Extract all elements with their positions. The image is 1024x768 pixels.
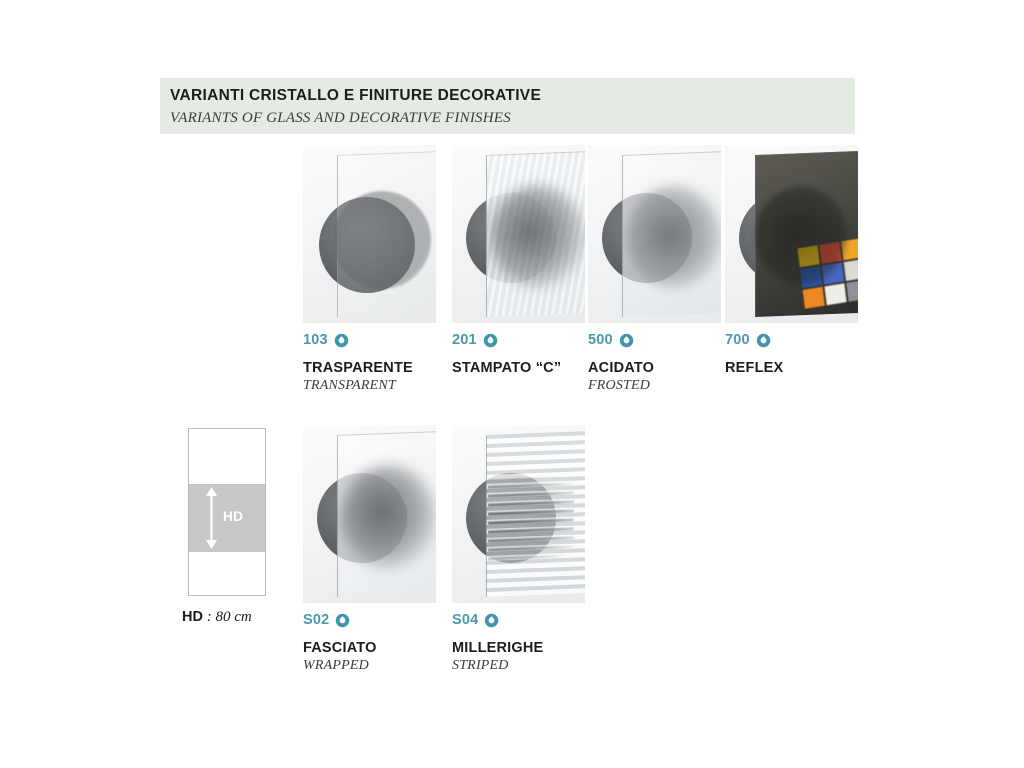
glass-variant-card-500[interactable]: 500 ACIDATO FROSTED — [588, 145, 725, 323]
page-subtitle: VARIANTS OF GLASS AND DECORATIVE FINISHE… — [170, 108, 855, 128]
variant-code-line: 103 — [303, 331, 453, 349]
variant-code: 500 — [588, 332, 613, 348]
variant-caption: S02 FASCIATO WRAPPED — [303, 611, 453, 674]
variant-code-line: 700 — [725, 331, 875, 349]
drop-icon — [335, 613, 350, 628]
variant-name-it: STAMPATO “C” — [452, 360, 602, 376]
variant-name-en: FROSTED — [588, 378, 738, 394]
glass-variant-card-103[interactable]: 103 TRASPARENTE TRANSPARENT — [303, 145, 440, 323]
glass-variant-card-S04[interactable]: S04 MILLERIGHE STRIPED — [452, 425, 589, 603]
glass-sample-image-700 — [725, 145, 858, 323]
section-header-band: VARIANTI CRISTALLO E FINITURE DECORATIVE… — [160, 78, 855, 134]
variant-caption: 700 REFLEX — [725, 331, 875, 378]
variant-caption: S04 MILLERIGHE STRIPED — [452, 611, 602, 674]
variant-name-en: WRAPPED — [303, 658, 453, 674]
variant-code-line: S04 — [452, 611, 602, 629]
drop-icon — [756, 333, 771, 348]
glass-sample-image-103 — [303, 145, 436, 323]
glass-pane — [337, 151, 436, 317]
glass-sample-image-S04 — [452, 425, 585, 603]
variant-code: 201 — [452, 332, 477, 348]
color-checker-reflection — [798, 238, 858, 308]
refraction-overlay — [488, 475, 574, 560]
variant-name-it: FASCIATO — [303, 640, 453, 656]
glass-variant-card-S02[interactable]: S02 FASCIATO WRAPPED — [303, 425, 440, 603]
glass-variant-card-201[interactable]: 201 STAMPATO “C” — [452, 145, 589, 323]
hd-caption: HD : 80 cm — [182, 608, 252, 626]
variant-name-en: TRANSPARENT — [303, 378, 453, 394]
variant-code-line: 500 — [588, 331, 738, 349]
drop-icon — [619, 333, 634, 348]
variant-name-it: ACIDATO — [588, 360, 738, 376]
glass-pane — [486, 151, 585, 317]
glass-sample-image-500 — [588, 145, 721, 323]
hd-caption-label: HD — [182, 609, 203, 625]
drop-icon — [334, 333, 349, 348]
variant-caption: 201 STAMPATO “C” — [452, 331, 602, 378]
glass-pane — [337, 431, 436, 597]
variant-name-it: REFLEX — [725, 360, 875, 376]
variant-code-line: 201 — [452, 331, 602, 349]
variant-code-line: S02 — [303, 611, 453, 629]
variant-name-it: TRASPARENTE — [303, 360, 453, 376]
hd-band-label: HD — [223, 509, 243, 524]
variant-code: 700 — [725, 332, 750, 348]
variant-caption: 103 TRASPARENTE TRANSPARENT — [303, 331, 453, 394]
hd-diagram: HD — [188, 428, 266, 596]
drop-icon — [483, 333, 498, 348]
glass-variant-card-700[interactable]: 700 REFLEX — [725, 145, 862, 323]
hd-double-arrow-icon — [205, 487, 218, 549]
hd-caption-value: : 80 cm — [203, 609, 252, 625]
glass-sample-image-S02 — [303, 425, 436, 603]
variant-code: S02 — [303, 612, 329, 628]
variant-name-en: STRIPED — [452, 658, 602, 674]
drop-icon — [484, 613, 499, 628]
variant-caption: 500 ACIDATO FROSTED — [588, 331, 738, 394]
variant-code: S04 — [452, 612, 478, 628]
variant-code: 103 — [303, 332, 328, 348]
glass-pane — [755, 151, 858, 317]
glass-sample-image-201 — [452, 145, 585, 323]
page-title: VARIANTI CRISTALLO E FINITURE DECORATIVE — [170, 86, 855, 106]
variant-name-it: MILLERIGHE — [452, 640, 602, 656]
glass-pane — [622, 151, 721, 317]
